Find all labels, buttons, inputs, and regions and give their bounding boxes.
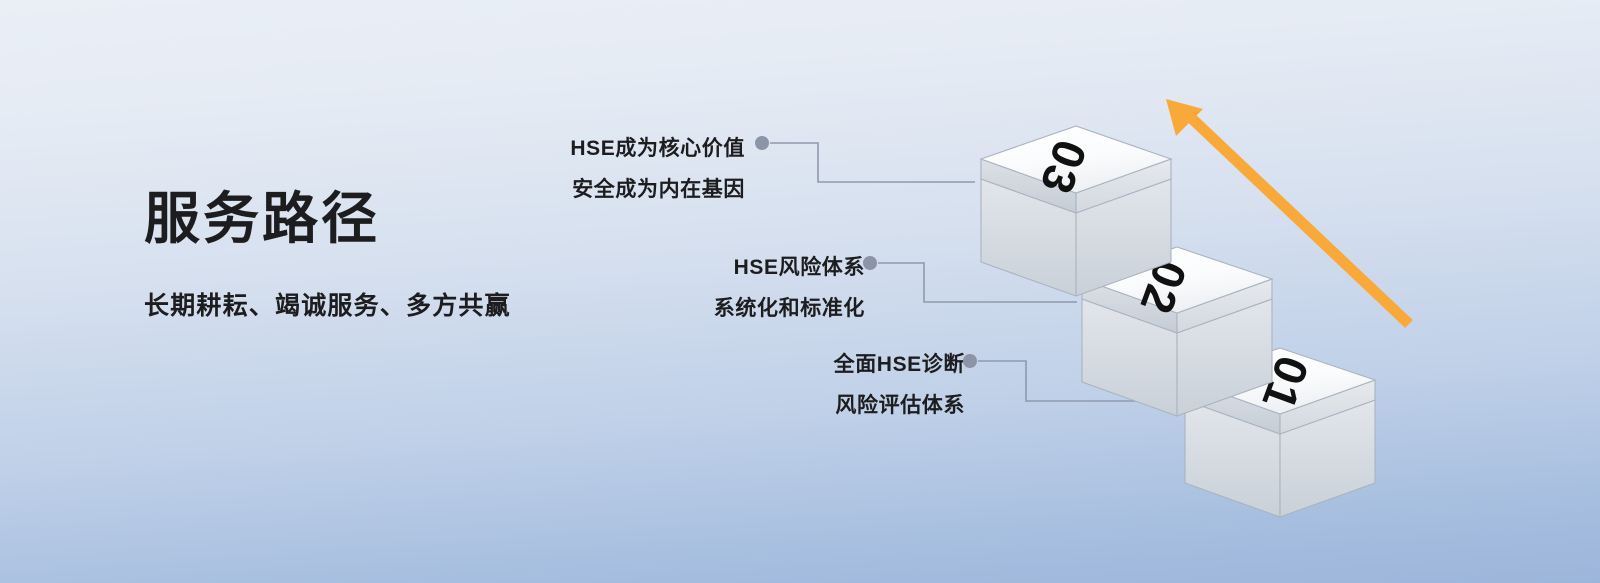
step-callout-02: HSE风险体系 系统化和标准化 [520,247,865,329]
connector-02 [863,256,1077,302]
step-callout-03: HSE成为核心价值 安全成为内在基因 [400,128,745,210]
step-block-02[interactable]: 02 [1082,247,1272,416]
slide-canvas: 服务路径 长期耕耘、竭诚服务、多方共赢 HSE成为核心价值 安全成为内在基因 H… [0,0,1600,583]
step-block-01[interactable]: 01 [1185,348,1375,517]
step-callout-03-line2: 安全成为内在基因 [400,169,745,210]
step-callout-02-line1: HSE风险体系 [520,247,865,288]
connector-dot-01 [963,354,977,368]
step-number-02: 02 [1130,253,1197,321]
step-block-03[interactable]: 03 [981,126,1171,296]
connector-dot-02 [863,256,877,270]
step-callout-02-line2: 系统化和标准化 [520,288,865,329]
step-callout-03-line1: HSE成为核心价值 [400,128,745,169]
step-number-03: 03 [1030,133,1097,201]
step-callout-01-line1: 全面HSE诊断 [620,344,965,385]
step-callout-01-line2: 风险评估体系 [620,385,965,426]
connector-03 [755,136,975,182]
connector-01 [963,354,1182,401]
step-number-01: 01 [1252,349,1319,417]
connector-dot-03 [755,136,769,150]
step-callout-01: 全面HSE诊断 风险评估体系 [620,344,965,426]
growth-arrow-icon [1166,99,1409,324]
